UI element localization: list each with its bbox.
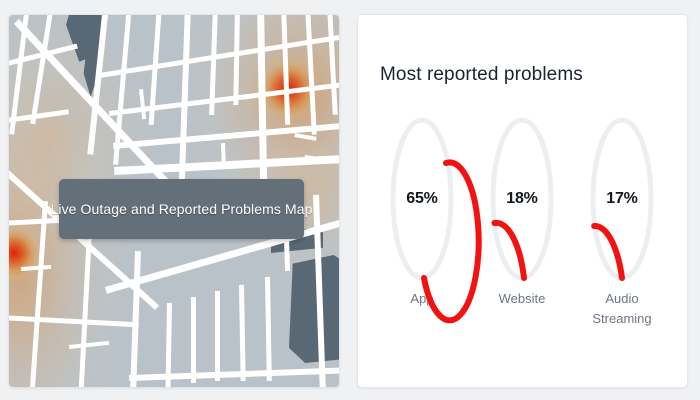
gauge-value-audio-streaming: 17% [588,115,656,283]
map-road-lv1 [29,201,48,387]
map-road-v8 [233,15,240,105]
problem-gauge-audio-streaming[interactable]: 17% Audio Streaming [575,115,669,329]
map-road-v2 [30,15,54,124]
problem-gauge-website[interactable]: 18% Website [475,115,569,309]
map-road-h8 [129,367,339,381]
map-overlay-label-text: Live Outage and Reported Problems Map [50,201,312,217]
map-road-v10 [281,15,290,125]
gauge-label-website: Website [499,289,546,309]
dashboard-page: Live Outage and Reported Problems Map Mo… [0,0,700,400]
gauge-ring-app: 65% [388,115,456,283]
map-road-stub6 [21,265,51,271]
map-road-h1 [99,34,339,78]
gauge-value-website: 18% [488,115,556,283]
problem-gauge-group: 65% App 18% Website [372,115,672,329]
map-road-lv5 [191,297,196,383]
map-road-lv2 [78,231,92,387]
map-road-h7 [9,315,139,327]
map-road-h5 [9,109,69,124]
gauge-label-audio-streaming: Audio Streaming [585,289,659,329]
map-road-stub1 [139,89,146,119]
most-reported-problems-card: Most reported problems 65% App [357,14,688,388]
map-road-v11 [305,15,317,135]
map-canvas[interactable]: Live Outage and Reported Problems Map [9,15,339,387]
map-road-lv6 [215,291,220,381]
map-road-lv8 [265,277,272,381]
live-outage-map-card[interactable]: Live Outage and Reported Problems Map [8,14,340,388]
map-road-lv3 [130,251,141,387]
map-road-v12 [327,15,338,115]
map-road-stub5 [69,341,109,349]
gauge-ring-website: 18% [488,115,556,283]
gauge-value-app: 65% [388,115,456,283]
problems-panel-title: Most reported problems [380,64,583,86]
problem-gauge-app[interactable]: 65% App [375,115,469,309]
map-block-southeast [289,255,339,363]
map-overlay-label[interactable]: Live Outage and Reported Problems Map [59,179,304,239]
gauge-ring-audio-streaming: 17% [588,115,656,283]
map-road-lv7 [239,285,246,381]
map-road-stub2 [221,143,226,169]
